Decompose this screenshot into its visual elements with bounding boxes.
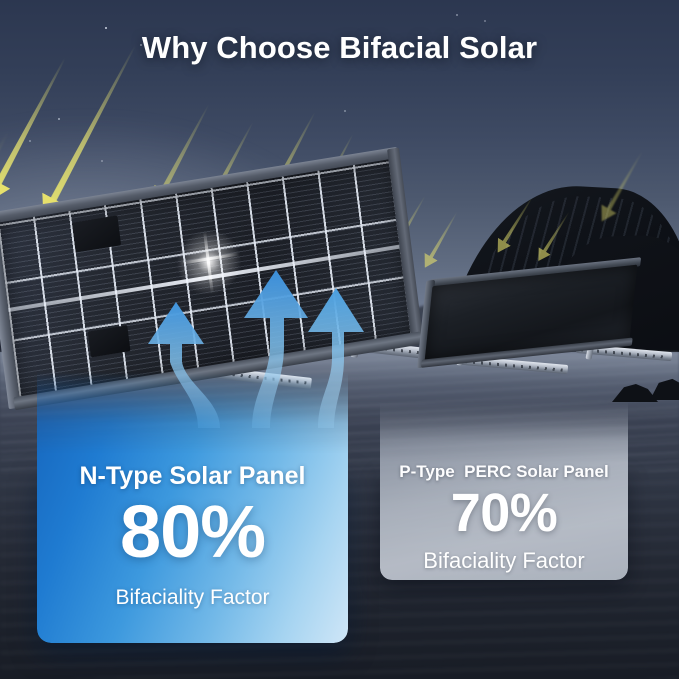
ptype-card-value: 70% [380, 486, 628, 540]
star-speck [484, 20, 486, 22]
monofacial-p-type-panel [425, 265, 638, 362]
star-speck [101, 160, 103, 162]
star-speck [344, 110, 346, 112]
ntype-card-heading: N-Type Solar Panel [37, 462, 348, 491]
page-title: Why Choose Bifacial Solar [0, 30, 679, 66]
infographic-canvas: Why Choose Bifacial Solar N-Type Solar P… [0, 0, 679, 679]
ptype-card-subtitle: Bifaciality Factor [380, 548, 628, 574]
star-speck [58, 118, 60, 120]
ntype-card-subtitle: Bifaciality Factor [37, 586, 348, 610]
ptype-card-heading: P-Type PERC Solar Panel [380, 462, 628, 482]
ntype-stat-card[interactable]: N-Type Solar Panel 80% Bifaciality Facto… [37, 372, 348, 643]
star-speck [105, 27, 107, 29]
ptype-stat-card[interactable]: P-Type PERC Solar Panel 70% Bifaciality … [380, 402, 628, 580]
star-speck [456, 14, 458, 16]
ntype-card-value: 80% [37, 495, 348, 569]
